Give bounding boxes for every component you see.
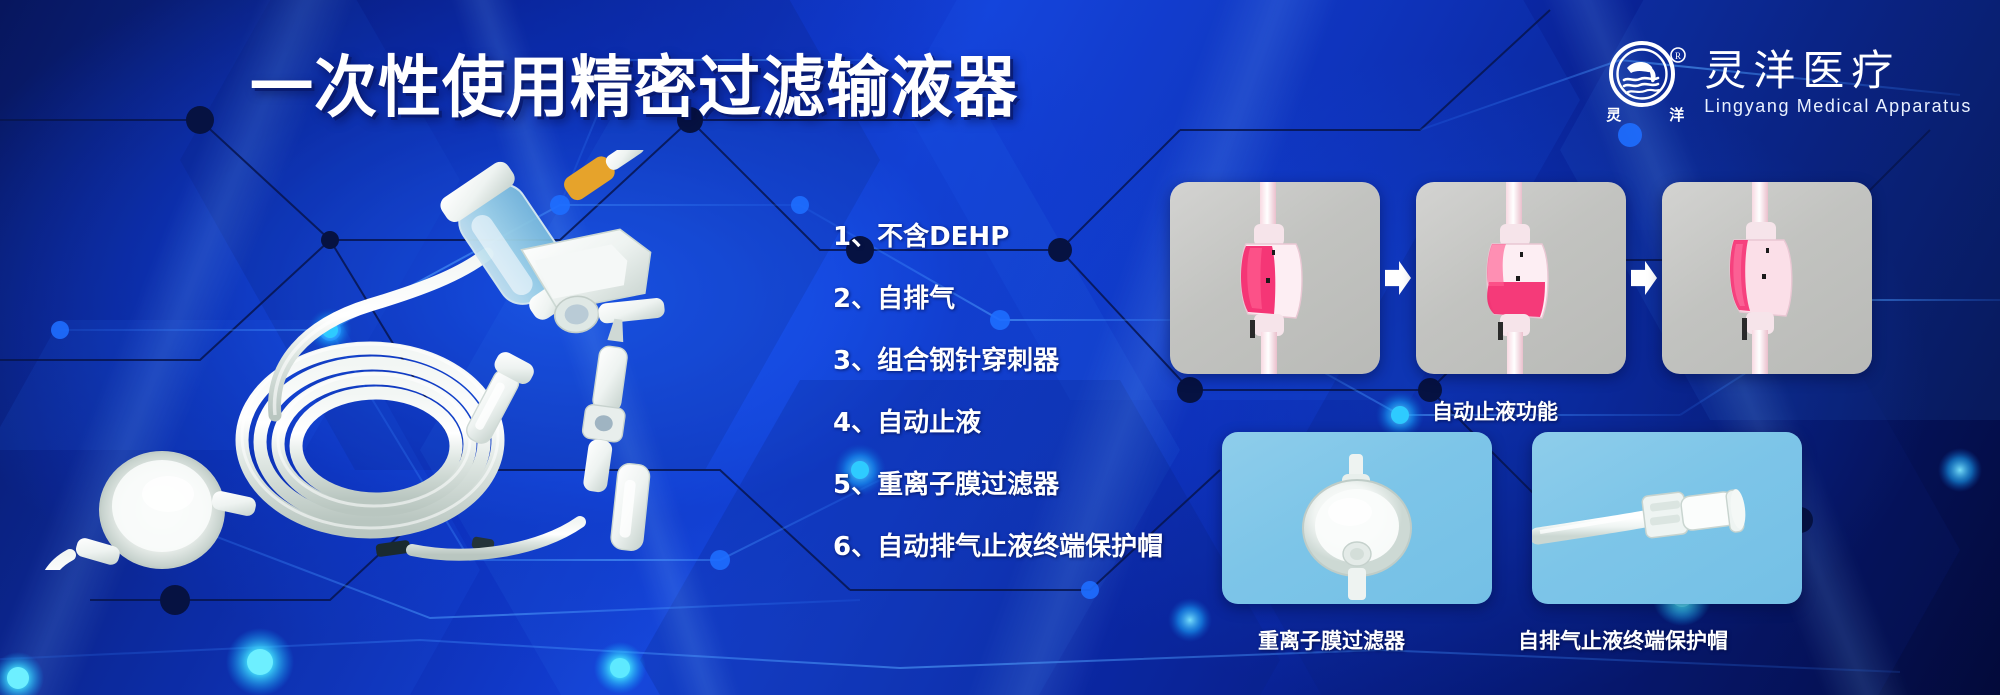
banner-title-area: 一次性使用精密过滤输液器 — [250, 48, 1030, 128]
terminal-cap-image — [1532, 432, 1802, 604]
feature-item-1: 1、不含DEHP — [833, 222, 1203, 252]
feature-item-5: 5、重离子膜过滤器 — [833, 470, 1203, 500]
arrow-right-icon — [1385, 261, 1411, 295]
auto-stop-caption: 自动止液功能 — [1432, 396, 1558, 426]
arrow-right-icon — [1631, 261, 1657, 295]
auto-stop-sequence — [1170, 182, 1872, 374]
stop-liquid-frame-3 — [1662, 182, 1872, 374]
filter-caption: 重离子膜过滤器 — [1258, 625, 1405, 655]
heavy-ion-membrane-filter-image — [1222, 432, 1492, 604]
company-name-cn: 灵洋医疗 — [1704, 48, 1972, 94]
emblem-subtext-right: 洋 — [1669, 104, 1684, 125]
sequence-arrow-1 — [1380, 261, 1416, 295]
svg-text:R: R — [1675, 51, 1681, 61]
feature-item-3: 3、组合钢针穿刺器 — [833, 346, 1203, 376]
feature-item-6: 6、自动排气止液终端保护帽 — [833, 532, 1203, 562]
sequence-arrow-2 — [1626, 261, 1662, 295]
stop-liquid-frame-1 — [1170, 182, 1380, 374]
brand-name-block: 灵洋医疗 Lingyang Medical Apparatus — [1704, 46, 1972, 116]
feature-item-2: 2、自排气 — [833, 284, 1203, 314]
component-photo-row — [1222, 432, 1802, 604]
terminal-cap-caption: 自排气止液终端保护帽 — [1518, 625, 1728, 655]
lingyang-emblem-icon: R 灵 洋 — [1602, 38, 1688, 124]
emblem-subtext-left: 灵 — [1606, 104, 1621, 125]
product-hero-image — [40, 150, 740, 570]
feature-item-4: 4、自动止液 — [833, 408, 1203, 438]
emblem-subtext: 灵 洋 — [1602, 104, 1688, 125]
stop-liquid-frame-2 — [1416, 182, 1626, 374]
company-name-en: Lingyang Medical Apparatus — [1704, 96, 1972, 116]
page-title: 一次性使用精密过滤输液器 — [250, 46, 1030, 131]
brand-logo: R 灵 洋 灵洋医疗 Lingyang Medical Apparatus — [1602, 38, 1972, 124]
feature-list: 1、不含DEHP 2、自排气 3、组合钢针穿刺器 4、自动止液 5、重离子膜过滤… — [833, 222, 1203, 562]
product-banner: 一次性使用精密过滤输液器 R 灵 洋 灵洋医疗 — [0, 0, 2000, 695]
